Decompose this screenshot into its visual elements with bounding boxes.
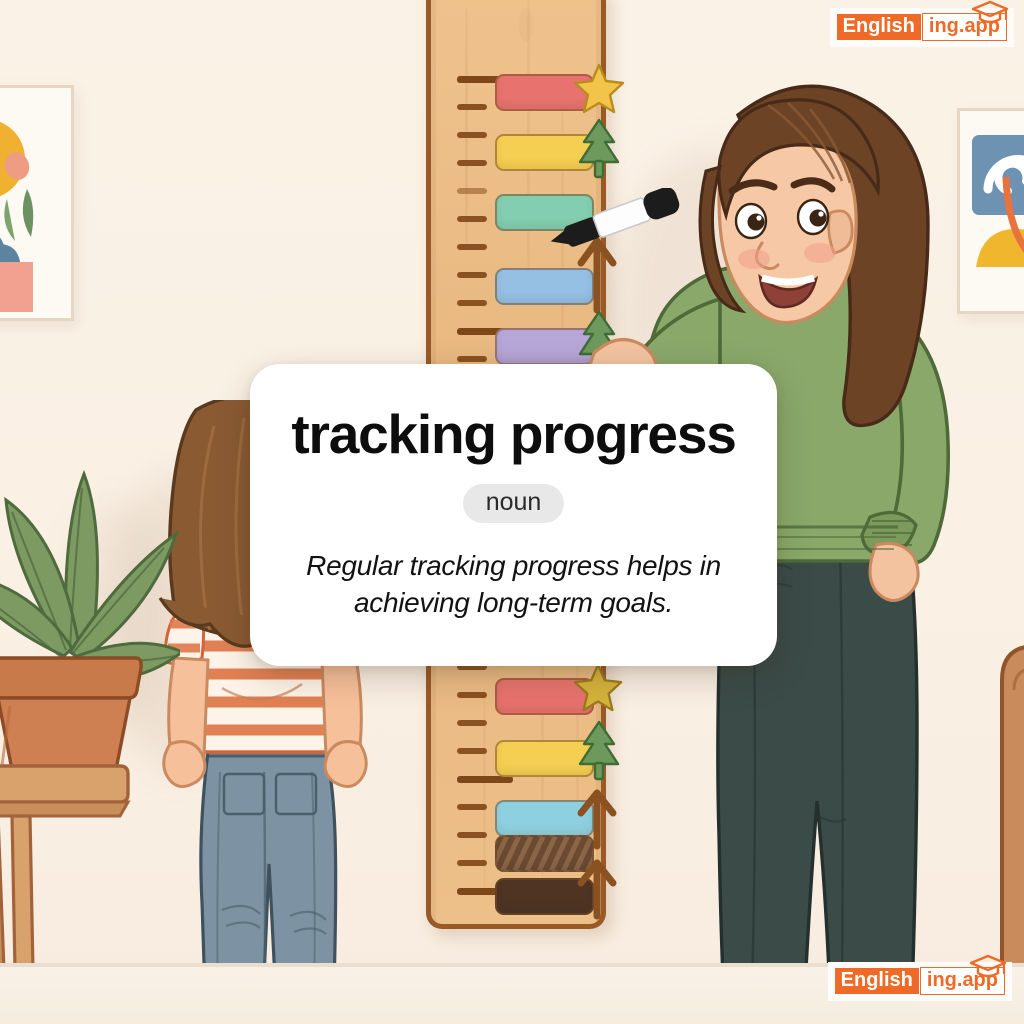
ruler-tick [457, 748, 487, 754]
ruler-tick [457, 776, 513, 783]
wall-art-left [0, 85, 74, 321]
word-title: tracking progress [291, 407, 735, 462]
ruler-tick [457, 104, 487, 110]
example-sentence: Regular tracking progress helps in achie… [284, 547, 744, 621]
ruler-tick [457, 272, 487, 278]
ruler-tick [457, 132, 487, 138]
part-of-speech-badge: noun [463, 484, 565, 523]
ruler-tick [457, 692, 487, 698]
graduation-cap-icon [968, 953, 1008, 979]
brand-logo-top-right[interactable]: English ing.app [830, 8, 1014, 47]
brand-logo-bottom-right[interactable]: English ing.app [828, 962, 1012, 1001]
ruler-tick [457, 356, 487, 362]
ruler-tick [457, 804, 487, 810]
ruler-tick [457, 244, 487, 250]
ruler-tick [457, 832, 487, 838]
ruler-tick [457, 160, 487, 166]
wall-art-left-graphic [0, 94, 65, 312]
graduation-cap-icon [970, 0, 1010, 25]
black-marker-pen [530, 188, 690, 258]
ruler-tick [457, 188, 487, 194]
ruler-tick [457, 720, 487, 726]
vocabulary-card: tracking progress noun Regular tracking … [250, 364, 777, 666]
logo-text-part1: English [837, 14, 921, 40]
logo-text-part1: English [835, 968, 919, 994]
ruler-tick [457, 300, 487, 306]
ruler-tick [457, 860, 487, 866]
scene-root: tracking progress noun Regular tracking … [0, 0, 1024, 1024]
potted-plant [0, 460, 180, 800]
ruler-tick [457, 216, 487, 222]
